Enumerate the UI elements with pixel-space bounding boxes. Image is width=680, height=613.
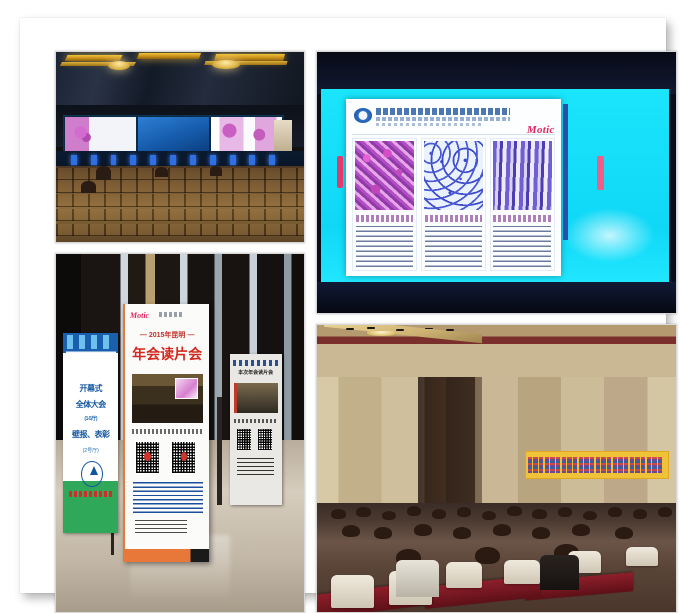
banner-caption-line [132, 429, 203, 434]
banner-header-text [66, 351, 116, 369]
banner-title: 年会读片会 [125, 344, 209, 364]
led-screen-center [138, 117, 209, 151]
slide-scrollbar[interactable] [563, 104, 568, 240]
audience-crowd [317, 503, 676, 612]
histology-image-2 [424, 141, 483, 210]
projector-glare [564, 208, 655, 264]
side-tab-right-icon[interactable] [597, 156, 604, 190]
auditorium-seating [56, 166, 304, 242]
sponsor-logo-row [67, 335, 115, 349]
banner-event-details [133, 482, 202, 513]
slide-header-line-2 [376, 117, 510, 121]
banner-blue-program[interactable]: 开幕式 全体大会 (1-5厅) 壁报、表彰 (2号厅) [63, 333, 118, 533]
photo-projected-slide[interactable]: Motic [316, 51, 677, 314]
histology-image-3 [493, 141, 552, 210]
poster-board [525, 451, 669, 479]
ceiling-panel [324, 324, 482, 343]
sign-header [233, 360, 279, 366]
banner-line-3: (1-5厅) [63, 417, 118, 422]
door-frame-post [217, 397, 222, 504]
motic-subtitle [159, 312, 184, 317]
slide-column [490, 138, 555, 271]
wall-below-screen [317, 282, 676, 313]
photo-lobby-banners[interactable]: 开幕式 全体大会 (1-5厅) 壁报、表彰 (2号厅) Motic — 2015… [55, 253, 305, 613]
banner-footer-bar [125, 549, 209, 562]
banner-motic-reading[interactable]: Motic — 2015年昆明 — 年会读片会 [123, 304, 209, 562]
motic-logo: Motic [130, 311, 149, 320]
chandelier-icon [212, 60, 239, 69]
slide-column [421, 138, 486, 271]
qr-code[interactable] [258, 429, 273, 450]
photo-auditorium-led-wall[interactable]: Conference auditorium with three-panel L… [55, 51, 305, 243]
qr-code[interactable] [135, 441, 160, 474]
banner-small-sign[interactable]: 本次年会读片会 [230, 354, 282, 504]
banner-footnote [69, 491, 113, 497]
side-tab-left-icon[interactable] [337, 156, 343, 187]
slide-column [352, 138, 417, 271]
qr-code[interactable] [237, 429, 252, 450]
slide-header-line-3 [376, 123, 483, 126]
association-crest-icon [354, 108, 372, 123]
banner-line-4: 壁报、表彰 [63, 431, 118, 439]
slide-header [352, 106, 554, 135]
banner-line-1: 开幕式 [63, 385, 118, 393]
photo-sheet: Conference auditorium with three-panel L… [20, 18, 666, 593]
gold-ceiling-panel [137, 53, 201, 59]
venue-emblem-icon [81, 461, 103, 487]
histology-image-1 [355, 141, 414, 210]
banner-year-line: — 2015年昆明 — [125, 330, 209, 340]
banner-line-5: (2号厅) [63, 447, 118, 454]
photo-audience-hall[interactable]: Packed conference hall audience seated a… [316, 324, 677, 613]
wall-above-screen [317, 52, 676, 94]
sign-caption-line [234, 419, 278, 423]
sign-details [237, 456, 275, 474]
chandelier-icon [108, 61, 130, 70]
sign-photo [234, 383, 278, 413]
led-screen-right [211, 117, 282, 151]
banner-photo [132, 374, 203, 423]
banner-inset-slide-image [175, 378, 198, 400]
banner-schedule-details [135, 518, 187, 533]
led-screen-left [65, 117, 136, 151]
collage-canvas: Conference auditorium with three-panel L… [0, 0, 680, 611]
banner-line-2: 全体大会 [63, 401, 118, 409]
slide-header-line-1 [376, 108, 510, 114]
slide-content: Motic [346, 99, 561, 276]
led-screen-wall [63, 115, 283, 153]
qr-code[interactable] [171, 441, 196, 474]
sign-title: 本次年会读片会 [230, 369, 282, 376]
chandelier-icon [367, 331, 396, 337]
slide-columns [352, 138, 554, 271]
gold-ceiling-panel [64, 55, 122, 61]
motic-logo: Motic [527, 124, 555, 136]
